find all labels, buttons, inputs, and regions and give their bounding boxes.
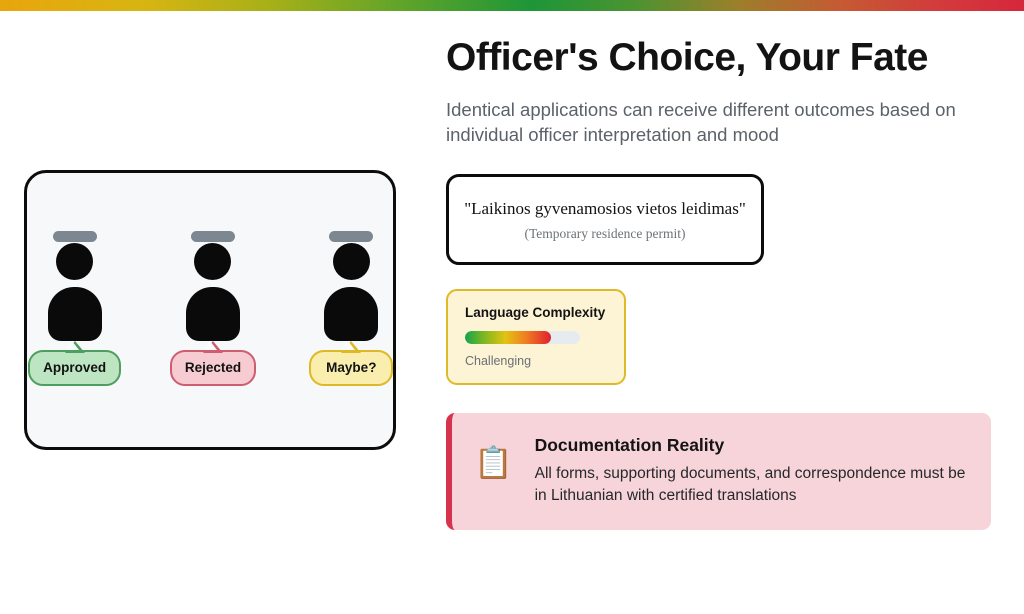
documentation-title: Documentation Reality (535, 435, 967, 456)
top-gradient-bar (0, 0, 1024, 11)
verdict-bubble-maybe[interactable]: Maybe? (309, 350, 393, 386)
page-title: Officer's Choice, Your Fate (446, 38, 991, 79)
content-column: Officer's Choice, Your Fate Identical ap… (446, 38, 991, 530)
verdict-bubble-wrap: Rejected (170, 350, 256, 386)
bubble-pointer-icon (65, 341, 85, 353)
documentation-text-block: Documentation Reality All forms, support… (535, 435, 967, 508)
verdict-label: Maybe? (326, 360, 376, 375)
verdict-bubble-approved[interactable]: Approved (28, 350, 121, 386)
verdict-bubble-wrap: Maybe? (309, 350, 393, 386)
phrase-native-text: "Laikinos gyvenamosios vietos leidimas" (463, 199, 747, 219)
officer-body-icon (48, 287, 102, 341)
documentation-body-text: All forms, supporting documents, and cor… (535, 463, 967, 508)
complexity-meter-track (465, 331, 580, 344)
officer-item: Rejected (165, 231, 260, 386)
officer-list: Approved Rejected (27, 231, 399, 386)
clipboard-icon: 📋 (474, 447, 513, 478)
officer-body-icon (186, 287, 240, 341)
officer-head-icon (333, 243, 370, 280)
phrase-box: "Laikinos gyvenamosios vietos leidimas" … (446, 174, 764, 265)
language-complexity-title: Language Complexity (465, 305, 607, 320)
documentation-reality-card: 📋 Documentation Reality All forms, suppo… (446, 413, 991, 530)
officer-head-icon (194, 243, 231, 280)
officer-cap-icon (329, 231, 373, 242)
officer-cap-icon (53, 231, 97, 242)
officer-item: Approved (27, 231, 122, 386)
page-subtitle: Identical applications can receive diffe… (446, 98, 986, 148)
bubble-pointer-icon (203, 341, 223, 353)
officer-body-icon (324, 287, 378, 341)
complexity-meter-fill (465, 331, 551, 344)
verdict-label: Approved (43, 360, 106, 375)
verdict-bubble-rejected[interactable]: Rejected (170, 350, 256, 386)
officer-cap-icon (191, 231, 235, 242)
language-complexity-card: Language Complexity Challenging (446, 289, 626, 385)
complexity-level-label: Challenging (465, 354, 607, 368)
officer-head-icon (56, 243, 93, 280)
verdict-bubble-wrap: Approved (28, 350, 121, 386)
verdict-label: Rejected (185, 360, 241, 375)
officer-item: Maybe? (304, 231, 399, 386)
bubble-pointer-icon (341, 341, 361, 353)
phrase-translation-text: (Temporary residence permit) (463, 226, 747, 242)
officer-decision-panel: Approved Rejected (24, 170, 396, 450)
